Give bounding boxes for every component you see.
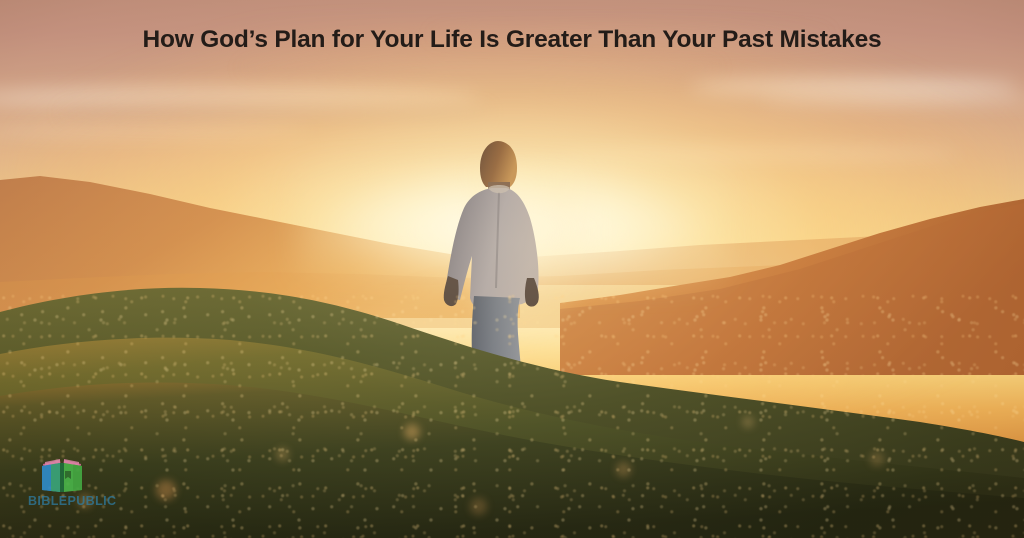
article-hero-banner: How God’s Plan for Your Life Is Greater … (0, 0, 1024, 538)
logo-wordmark: BIBLEPUBLIC (28, 494, 158, 508)
walking-person-figure (430, 138, 562, 443)
page-title: How God’s Plan for Your Life Is Greater … (0, 26, 1024, 54)
open-book-icon (40, 458, 84, 496)
biblepublic-logo[interactable]: BIBLEPUBLIC (28, 458, 158, 514)
